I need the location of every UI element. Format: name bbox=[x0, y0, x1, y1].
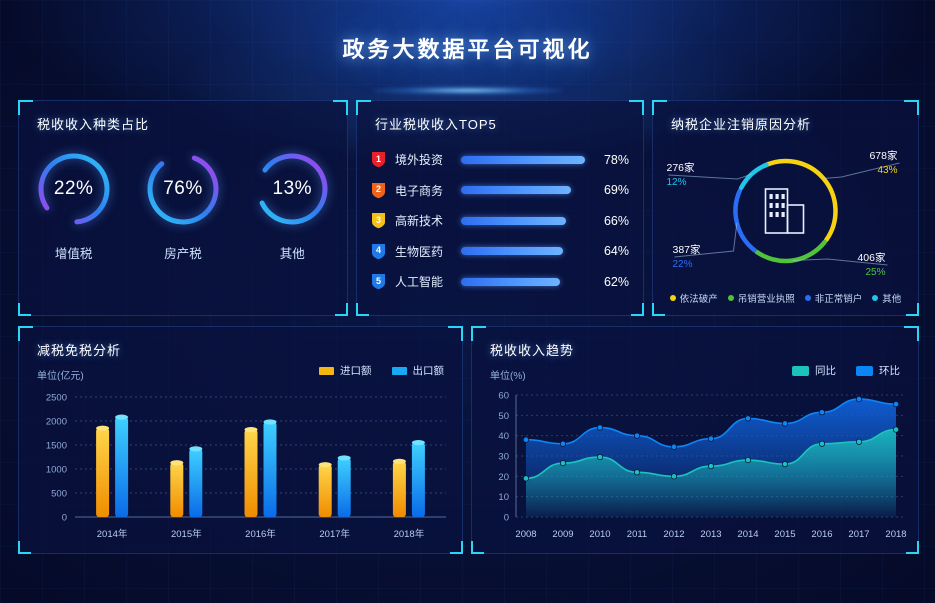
trend-x-tick-label: 2014 bbox=[737, 529, 758, 540]
gauge-label: 增值税 bbox=[26, 243, 122, 262]
corner-decoration bbox=[356, 303, 369, 316]
trend-y-tick-label: 40 bbox=[498, 431, 509, 442]
panel-tax-income-trend: 税收收入趋势 单位(%) 同比环比 0102030405060200820092… bbox=[471, 326, 919, 554]
trend-data-point[interactable] bbox=[560, 460, 565, 465]
trend-data-point[interactable] bbox=[745, 457, 750, 462]
top5-bar-fill bbox=[461, 186, 571, 194]
trend-data-point[interactable] bbox=[671, 444, 676, 449]
corner-decoration bbox=[18, 303, 31, 316]
top5-bar-track bbox=[461, 278, 585, 286]
donut-label-percent: 25% bbox=[865, 267, 885, 278]
panel-cancellation-reason: 纳税企业注销原因分析 678家43%406家25%387家22%276家12% … bbox=[652, 100, 919, 316]
trend-legend-item[interactable]: 同比 bbox=[792, 363, 836, 378]
donut-label-percent: 22% bbox=[672, 259, 692, 270]
rank-number: 1 bbox=[371, 151, 386, 168]
title-underglow bbox=[373, 86, 563, 95]
top5-percent: 66% bbox=[595, 214, 629, 228]
bar-cap bbox=[96, 426, 109, 431]
panel-title: 行业税收收入TOP5 bbox=[375, 114, 497, 133]
building-icon bbox=[765, 189, 803, 233]
trend-chart-plot: 0102030405060200820092010201120122013201… bbox=[472, 385, 918, 545]
bar-cap bbox=[189, 446, 202, 451]
corner-decoration bbox=[631, 303, 644, 316]
rank-shield-icon: 5 bbox=[371, 273, 386, 290]
top5-percent: 64% bbox=[595, 244, 629, 258]
bar-x-tick-label: 2014年 bbox=[97, 528, 128, 540]
gauge-label: 房产税 bbox=[135, 243, 231, 262]
rank-number: 4 bbox=[371, 243, 386, 260]
bar-x-tick-label: 2018年 bbox=[394, 528, 425, 540]
cancellation-donut-chart: 678家43%406家25%387家22%276家12% bbox=[653, 137, 918, 287]
trend-x-tick-label: 2011 bbox=[627, 529, 647, 540]
bar-rect[interactable] bbox=[319, 465, 332, 517]
donut-legend-label: 依法破产 bbox=[680, 291, 718, 305]
top5-row[interactable]: 2电子商务69% bbox=[371, 176, 629, 205]
top5-item-name: 境外投资 bbox=[395, 151, 457, 168]
gauge-value: 22% bbox=[34, 149, 114, 229]
donut-legend-item[interactable]: 其他 bbox=[872, 291, 901, 305]
bar-x-tick-label: 2016年 bbox=[245, 528, 276, 540]
trend-data-point[interactable] bbox=[634, 470, 639, 475]
panel-title: 税收收入种类占比 bbox=[37, 114, 149, 133]
donut-legend-label: 吊销营业执照 bbox=[738, 291, 795, 305]
trend-data-point[interactable] bbox=[745, 416, 750, 421]
trend-legend-label: 同比 bbox=[815, 363, 836, 378]
trend-x-tick-label: 2018 bbox=[885, 529, 906, 540]
legend-dot-icon bbox=[805, 295, 811, 301]
gauge-group: 22%增值税76%房产税13%其他 bbox=[19, 149, 347, 262]
trend-y-tick-label: 60 bbox=[498, 391, 509, 402]
bar-legend-item[interactable]: 进口额 bbox=[319, 363, 372, 378]
bar-rect[interactable] bbox=[189, 449, 202, 517]
panel-tax-reduction-analysis: 减税免税分析 单位(亿元) 进口额出口额 0500100015002000250… bbox=[18, 326, 463, 554]
rank-shield-icon: 1 bbox=[371, 151, 386, 168]
trend-y-tick-label: 0 bbox=[504, 513, 509, 524]
rank-number: 3 bbox=[371, 212, 386, 229]
top5-bar-track bbox=[461, 247, 585, 255]
donut-legend-label: 其他 bbox=[882, 291, 901, 305]
legend-swatch-icon bbox=[319, 367, 334, 375]
trend-y-tick-label: 30 bbox=[498, 452, 509, 463]
trend-data-point[interactable] bbox=[671, 474, 676, 479]
gauge-3[interactable]: 13%其他 bbox=[244, 149, 340, 262]
trend-data-point[interactable] bbox=[856, 439, 861, 444]
bar-y-tick-label: 500 bbox=[51, 489, 67, 500]
donut-legend-item[interactable]: 依法破产 bbox=[670, 291, 718, 305]
trend-x-tick-label: 2017 bbox=[848, 529, 869, 540]
top5-percent: 78% bbox=[595, 153, 629, 167]
bar-cap bbox=[393, 459, 406, 464]
bar-rect[interactable] bbox=[412, 443, 425, 517]
trend-data-point[interactable] bbox=[856, 396, 861, 401]
donut-segment[interactable] bbox=[763, 161, 835, 240]
trend-data-point[interactable] bbox=[523, 476, 528, 481]
top5-row[interactable]: 1境外投资78% bbox=[371, 145, 629, 174]
bar-x-tick-label: 2017年 bbox=[319, 528, 350, 540]
bar-chart-plot: 050010001500200025002014年2015年2016年2017年… bbox=[19, 385, 462, 545]
top5-list: 1境外投资78%2电子商务69%3高新技术66%4生物医药64%5人工智能62% bbox=[371, 145, 629, 298]
trend-data-point[interactable] bbox=[819, 441, 824, 446]
top5-row[interactable]: 3高新技术66% bbox=[371, 206, 629, 235]
top5-percent: 69% bbox=[595, 183, 629, 197]
trend-legend-label: 环比 bbox=[879, 363, 900, 378]
trend-x-tick-label: 2009 bbox=[552, 529, 573, 540]
rank-number: 2 bbox=[371, 182, 386, 199]
bar-x-tick-label: 2015年 bbox=[171, 528, 202, 540]
bar-rect[interactable] bbox=[96, 428, 109, 517]
donut-segment[interactable] bbox=[735, 190, 754, 250]
bar-cap bbox=[115, 415, 128, 420]
donut-label-count: 406家 bbox=[857, 251, 886, 264]
trend-chart-unit-label: 单位(%) bbox=[490, 367, 526, 382]
donut-legend-item[interactable]: 非正常销户 bbox=[805, 291, 863, 305]
trend-data-point[interactable] bbox=[597, 454, 602, 459]
top5-item-name: 高新技术 bbox=[395, 212, 457, 229]
top5-bar-track bbox=[461, 186, 585, 194]
bar-chart-legend: 进口额出口额 bbox=[319, 363, 444, 378]
donut-legend: 依法破产吊销营业执照非正常销户其他 bbox=[653, 291, 918, 305]
bar-rect[interactable] bbox=[115, 417, 128, 517]
bar-legend-label: 进口额 bbox=[340, 363, 372, 378]
bar-cap bbox=[245, 427, 258, 432]
bar-y-tick-label: 2500 bbox=[46, 393, 67, 404]
top5-item-name: 人工智能 bbox=[395, 273, 457, 290]
trend-data-point[interactable] bbox=[523, 437, 528, 442]
rank-number: 5 bbox=[371, 273, 386, 290]
panel-industry-tax-top5: 行业税收收入TOP5 1境外投资78%2电子商务69%3高新技术66%4生物医药… bbox=[356, 100, 644, 316]
top5-percent: 62% bbox=[595, 275, 629, 289]
trend-data-point[interactable] bbox=[708, 436, 713, 441]
bar-legend-label: 出口额 bbox=[413, 363, 445, 378]
top5-item-name: 生物医药 bbox=[395, 243, 457, 260]
bar-legend-item[interactable]: 出口额 bbox=[392, 363, 445, 378]
bar-rect[interactable] bbox=[245, 430, 258, 517]
bar-y-tick-label: 0 bbox=[62, 513, 67, 524]
trend-x-tick-label: 2016 bbox=[811, 529, 832, 540]
top5-bar-fill bbox=[461, 278, 560, 286]
gauge-value: 76% bbox=[143, 149, 223, 229]
bar-cap bbox=[319, 462, 332, 467]
trend-data-point[interactable] bbox=[782, 421, 787, 426]
rank-shield-icon: 2 bbox=[371, 182, 386, 199]
gauge-ring: 13% bbox=[252, 149, 332, 229]
gauge-ring: 76% bbox=[143, 149, 223, 229]
donut-segment[interactable] bbox=[756, 242, 824, 261]
trend-x-tick-label: 2013 bbox=[700, 529, 721, 540]
trend-data-point[interactable] bbox=[893, 401, 898, 406]
gauge-value: 13% bbox=[252, 149, 332, 229]
bar-chart-unit-label: 单位(亿元) bbox=[37, 367, 84, 382]
donut-label-percent: 43% bbox=[877, 165, 897, 176]
trend-y-tick-label: 50 bbox=[498, 411, 509, 422]
trend-x-tick-label: 2012 bbox=[663, 529, 684, 540]
bar-rect[interactable] bbox=[338, 458, 351, 517]
top5-bar-fill bbox=[461, 247, 563, 255]
trend-x-tick-label: 2015 bbox=[774, 529, 795, 540]
donut-legend-label: 非正常销户 bbox=[815, 291, 863, 305]
trend-chart-legend: 同比环比 bbox=[792, 363, 900, 378]
trend-x-tick-label: 2010 bbox=[589, 529, 610, 540]
gauge-2[interactable]: 76%房产税 bbox=[135, 149, 231, 262]
donut-label-count: 276家 bbox=[666, 161, 695, 174]
bar-rect[interactable] bbox=[393, 461, 406, 517]
legend-dot-icon bbox=[728, 295, 734, 301]
bar-y-tick-label: 1000 bbox=[46, 465, 67, 476]
bar-cap bbox=[264, 419, 277, 424]
bar-rect[interactable] bbox=[264, 422, 277, 517]
donut-label-count: 387家 bbox=[672, 243, 701, 256]
panel-title: 税收收入趋势 bbox=[490, 340, 574, 359]
gauge-ring: 22% bbox=[34, 149, 114, 229]
bar-cap bbox=[338, 455, 351, 460]
legend-swatch-icon bbox=[392, 367, 407, 375]
gauge-1[interactable]: 22%增值税 bbox=[26, 149, 122, 262]
trend-y-tick-label: 10 bbox=[498, 492, 509, 503]
top5-bar-track bbox=[461, 217, 585, 225]
page-title: 政务大数据平台可视化 bbox=[342, 32, 592, 64]
top5-item-name: 电子商务 bbox=[395, 182, 457, 199]
top5-bar-fill bbox=[461, 217, 566, 225]
rank-shield-icon: 3 bbox=[371, 212, 386, 229]
top5-row[interactable]: 4生物医药64% bbox=[371, 237, 629, 266]
gauge-label: 其他 bbox=[244, 243, 340, 262]
trend-data-point[interactable] bbox=[708, 463, 713, 468]
bar-rect[interactable] bbox=[170, 463, 183, 517]
panel-tax-type-share: 税收收入种类占比 22%增值税76%房产税13%其他 bbox=[18, 100, 348, 316]
bar-cap bbox=[170, 460, 183, 465]
legend-swatch-icon bbox=[792, 366, 809, 376]
trend-data-point[interactable] bbox=[782, 461, 787, 466]
trend-data-point[interactable] bbox=[597, 425, 602, 430]
bar-y-tick-label: 2000 bbox=[46, 417, 67, 428]
bar-cap bbox=[412, 440, 425, 445]
trend-legend-item[interactable]: 环比 bbox=[856, 363, 900, 378]
trend-x-tick-label: 2008 bbox=[515, 529, 536, 540]
donut-legend-item[interactable]: 吊销营业执照 bbox=[728, 291, 795, 305]
corner-decoration bbox=[335, 303, 348, 316]
trend-data-point[interactable] bbox=[634, 433, 639, 438]
dashboard-header: 政务大数据平台可视化 bbox=[0, 0, 935, 96]
donut-label-count: 678家 bbox=[869, 149, 898, 162]
legend-dot-icon bbox=[872, 295, 878, 301]
trend-y-tick-label: 20 bbox=[498, 472, 509, 483]
panel-title: 纳税企业注销原因分析 bbox=[671, 114, 811, 133]
top5-row[interactable]: 5人工智能62% bbox=[371, 267, 629, 296]
legend-swatch-icon bbox=[856, 366, 873, 376]
legend-dot-icon bbox=[670, 295, 676, 301]
trend-data-point[interactable] bbox=[819, 410, 824, 415]
trend-data-point[interactable] bbox=[560, 441, 565, 446]
donut-label-percent: 12% bbox=[666, 177, 686, 188]
trend-data-point[interactable] bbox=[893, 427, 898, 432]
rank-shield-icon: 4 bbox=[371, 243, 386, 260]
bar-y-tick-label: 1500 bbox=[46, 441, 67, 452]
panel-title: 减税免税分析 bbox=[37, 340, 121, 359]
top5-bar-fill bbox=[461, 156, 585, 164]
top5-bar-track bbox=[461, 156, 585, 164]
